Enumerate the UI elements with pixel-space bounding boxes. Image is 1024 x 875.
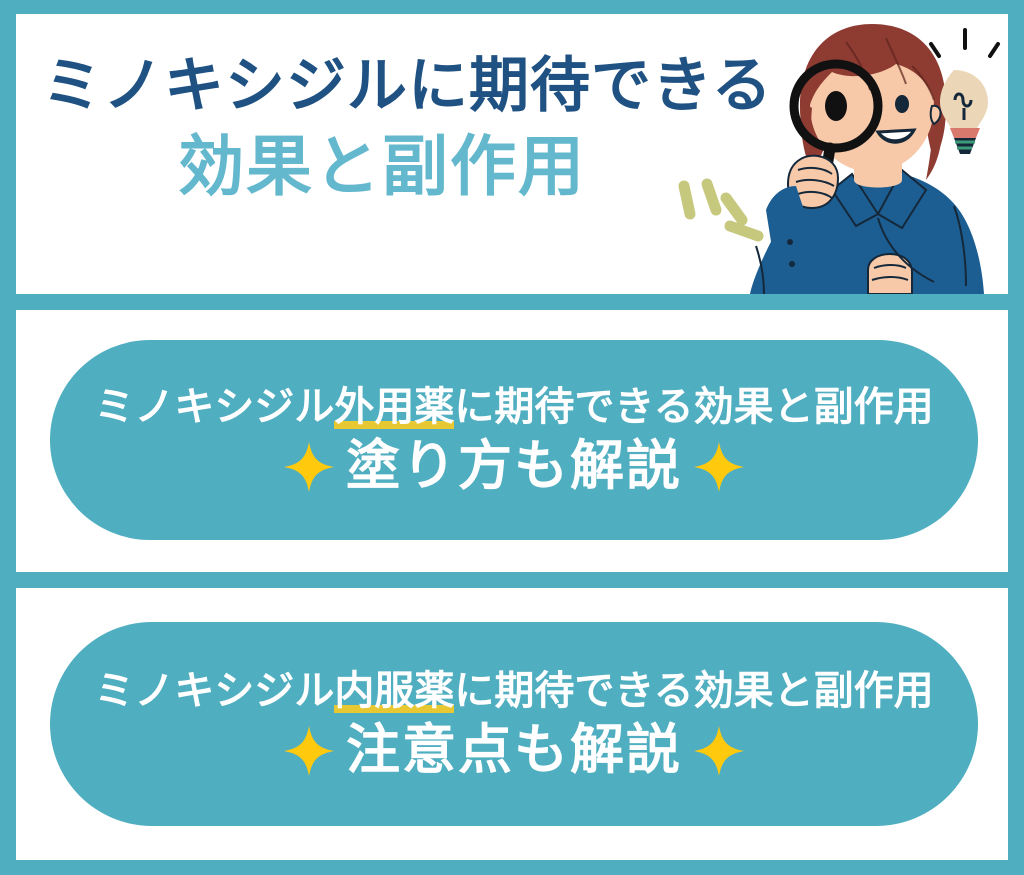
card-1-headline: ミノキシジル外用薬に期待できる効果と副作用 [94, 384, 933, 431]
card-2-subline: 注意点も解説 [282, 721, 746, 780]
card-1-subline-text: 塗り方も解説 [346, 437, 682, 496]
hero-panel: ミノキシジルに期待できる 効果と副作用 [16, 14, 1008, 294]
card-1-headline-highlight: 外用薬 [334, 385, 454, 431]
card-1-subline: 塗り方も解説 [282, 437, 746, 496]
card-pill-2[interactable]: ミノキシジル内服薬に期待できる効果と副作用 注意点も解説 [50, 622, 978, 826]
card-1-headline-pre: ミノキシジル [94, 385, 334, 429]
four-point-sparkle-icon [692, 724, 746, 778]
card-1-headline-post: に期待できる効果と副作用 [454, 385, 933, 429]
hero-title-line1: ミノキシジルに期待できる [42, 54, 762, 119]
card-2-headline-highlight: 内服薬 [334, 669, 454, 715]
hero-text-block: ミノキシジルに期待できる 効果と副作用 [42, 54, 762, 202]
four-point-sparkle-icon [282, 724, 336, 778]
card-2-headline-post: に期待できる効果と副作用 [454, 669, 933, 713]
card-panel-1: ミノキシジル外用薬に期待できる効果と副作用 塗り方も解説 [16, 310, 1008, 572]
four-point-sparkle-icon [282, 440, 336, 494]
card-2-headline-pre: ミノキシジル [94, 669, 334, 713]
woman-with-magnifying-glass-illustration [726, 14, 1008, 294]
four-point-sparkle-icon [692, 440, 746, 494]
card-panel-2: ミノキシジル内服薬に期待できる効果と副作用 注意点も解説 [16, 588, 1008, 860]
infographic-canvas: ミノキシジルに期待できる 効果と副作用 [0, 0, 1024, 875]
card-pill-1[interactable]: ミノキシジル外用薬に期待できる効果と副作用 塗り方も解説 [50, 340, 978, 540]
card-2-subline-text: 注意点も解説 [346, 721, 682, 780]
hero-title-line2: 効果と副作用 [42, 131, 762, 202]
card-2-headline: ミノキシジル内服薬に期待できる効果と副作用 [94, 668, 933, 715]
